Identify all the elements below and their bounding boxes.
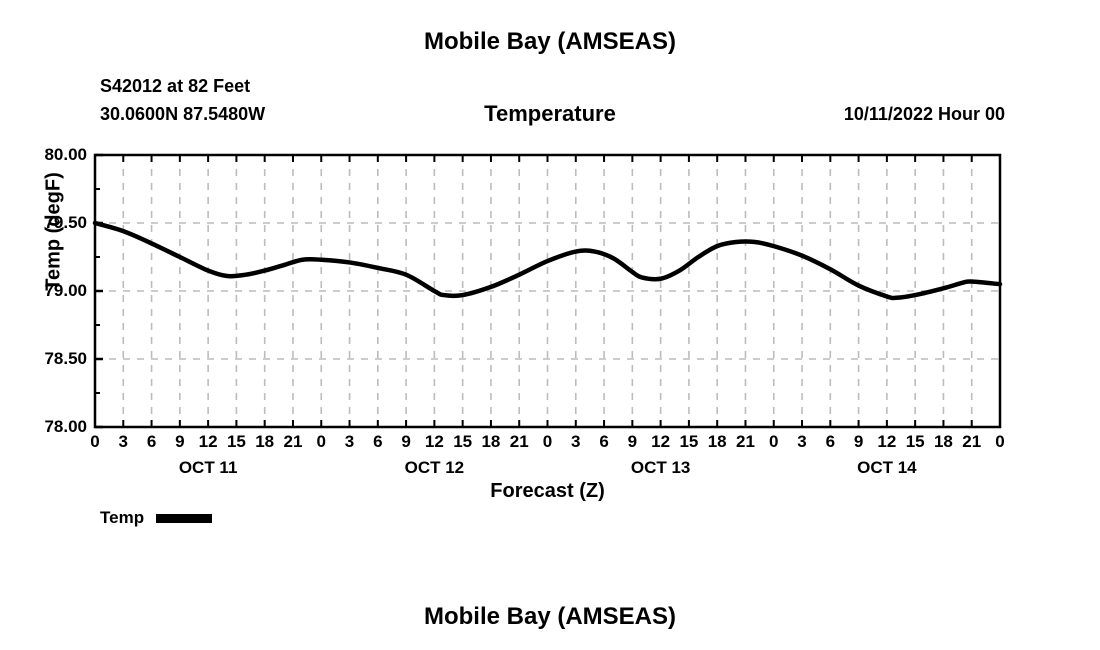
x-tick-label: 21 xyxy=(957,432,987,452)
x-tick-label: 21 xyxy=(730,432,760,452)
x-tick-label: 18 xyxy=(702,432,732,452)
y-tick-label: 79.00 xyxy=(3,281,87,301)
temperature-line-chart xyxy=(0,0,1100,650)
day-label: OCT 12 xyxy=(374,458,494,478)
day-label: OCT 11 xyxy=(148,458,268,478)
x-axis-title: Forecast (Z) xyxy=(95,480,1000,503)
x-tick-label: 15 xyxy=(221,432,251,452)
plot-area: Temp (degF) Forecast (Z) 80.0079.5079.00… xyxy=(0,0,1100,650)
y-tick-label: 79.50 xyxy=(3,213,87,233)
x-tick-label: 0 xyxy=(533,432,563,452)
x-tick-label: 6 xyxy=(363,432,393,452)
x-tick-label: 6 xyxy=(815,432,845,452)
chart-page: Mobile Bay (AMSEAS) S42012 at 82 Feet 30… xyxy=(0,0,1100,650)
x-tick-label: 12 xyxy=(646,432,676,452)
x-tick-label: 12 xyxy=(419,432,449,452)
legend-swatch-temp xyxy=(156,514,212,523)
x-tick-label: 18 xyxy=(476,432,506,452)
x-tick-label: 6 xyxy=(589,432,619,452)
x-tick-label: 9 xyxy=(617,432,647,452)
x-tick-label: 3 xyxy=(335,432,365,452)
x-tick-label: 21 xyxy=(504,432,534,452)
y-tick-label: 78.00 xyxy=(3,417,87,437)
x-tick-label: 9 xyxy=(165,432,195,452)
day-label: OCT 14 xyxy=(827,458,947,478)
chart-legend: Temp xyxy=(100,508,212,528)
footer-title: Mobile Bay (AMSEAS) xyxy=(0,603,1100,631)
x-tick-label: 15 xyxy=(674,432,704,452)
x-tick-label: 9 xyxy=(391,432,421,452)
legend-label-temp: Temp xyxy=(100,508,144,528)
day-label: OCT 13 xyxy=(601,458,721,478)
x-tick-label: 12 xyxy=(193,432,223,452)
gridlines xyxy=(95,155,1000,427)
x-tick-label: 0 xyxy=(80,432,110,452)
y-tick-label: 78.50 xyxy=(3,349,87,369)
x-tick-label: 3 xyxy=(108,432,138,452)
x-tick-label: 15 xyxy=(448,432,478,452)
y-tick-label: 80.00 xyxy=(3,145,87,165)
x-tick-label: 0 xyxy=(759,432,789,452)
x-tick-label: 3 xyxy=(561,432,591,452)
x-tick-label: 0 xyxy=(985,432,1015,452)
x-tick-label: 21 xyxy=(278,432,308,452)
x-tick-label: 6 xyxy=(137,432,167,452)
x-tick-label: 9 xyxy=(844,432,874,452)
x-tick-label: 18 xyxy=(928,432,958,452)
x-tick-label: 0 xyxy=(306,432,336,452)
x-tick-label: 12 xyxy=(872,432,902,452)
x-tick-label: 18 xyxy=(250,432,280,452)
x-tick-label: 3 xyxy=(787,432,817,452)
x-tick-label: 15 xyxy=(900,432,930,452)
